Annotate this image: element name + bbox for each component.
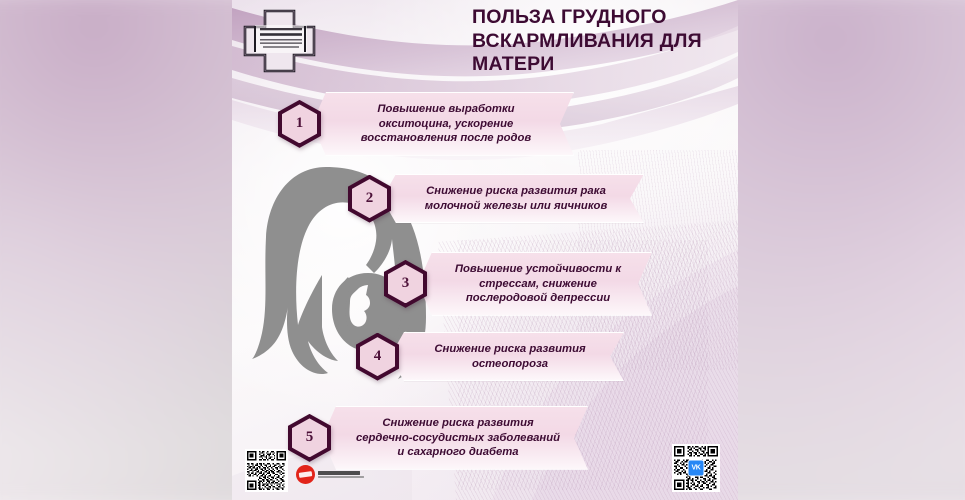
red-stamp-badge[interactable] [296, 465, 364, 484]
stamp-bar-icon [299, 471, 313, 478]
screenshot-canvas: ПОЛЬЗА ГРУДНОГО ВСКАРМЛИВАНИЯ ДЛЯ МАТЕРИ… [0, 0, 965, 500]
benefit-number-badge: 1 [278, 100, 321, 148]
benefit-number-badge: 5 [288, 414, 331, 462]
page-title: ПОЛЬЗА ГРУДНОГО ВСКАРМЛИВАНИЯ ДЛЯ МАТЕРИ [472, 6, 724, 77]
benefit-number: 2 [366, 190, 374, 207]
hotline-caption-bar [318, 476, 364, 479]
benefit-number-badge: 2 [348, 175, 391, 223]
benefit-number: 1 [296, 115, 304, 132]
infographic-poster: ПОЛЬЗА ГРУДНОГО ВСКАРМЛИВАНИЯ ДЛЯ МАТЕРИ… [232, 0, 738, 500]
medical-cross-logo-icon [238, 5, 321, 75]
red-stamp-icon [296, 465, 315, 484]
benefit-text: Снижение риска развития остеопороза [390, 332, 624, 381]
hotline-number-bar [318, 471, 360, 475]
benefit-number-badge: 4 [356, 333, 399, 381]
benefit-row: 5 Снижение риска развития сердечно-сосуд… [288, 406, 588, 470]
benefit-row: 4 Снижение риска развития остеопороза [356, 332, 624, 381]
benefit-text: Снижение риска развития сердечно-сосудис… [322, 406, 588, 470]
benefit-text: Повышение выработки окситоцина, ускорени… [312, 92, 574, 156]
benefit-number-badge: 3 [384, 260, 427, 308]
vk-logo-icon: VK [688, 460, 705, 477]
benefit-number: 3 [402, 275, 410, 292]
benefit-row: 1 Повышение выработки окситоцина, ускоре… [278, 92, 574, 156]
benefit-number: 5 [306, 429, 314, 446]
benefit-number: 4 [374, 348, 382, 365]
qr-code-icon[interactable] [245, 449, 288, 492]
qr-code-vk-icon[interactable]: VK [672, 444, 720, 492]
benefit-row: 2 Снижение риска развития рака молочной … [348, 174, 644, 223]
benefit-text: Повышение устойчивости к стрессам, сниже… [418, 252, 652, 316]
benefit-row: 3 Повышение устойчивости к стрессам, сни… [384, 252, 652, 316]
hotline-text-block [318, 471, 364, 478]
benefit-text: Снижение риска развития рака молочной же… [382, 174, 644, 223]
